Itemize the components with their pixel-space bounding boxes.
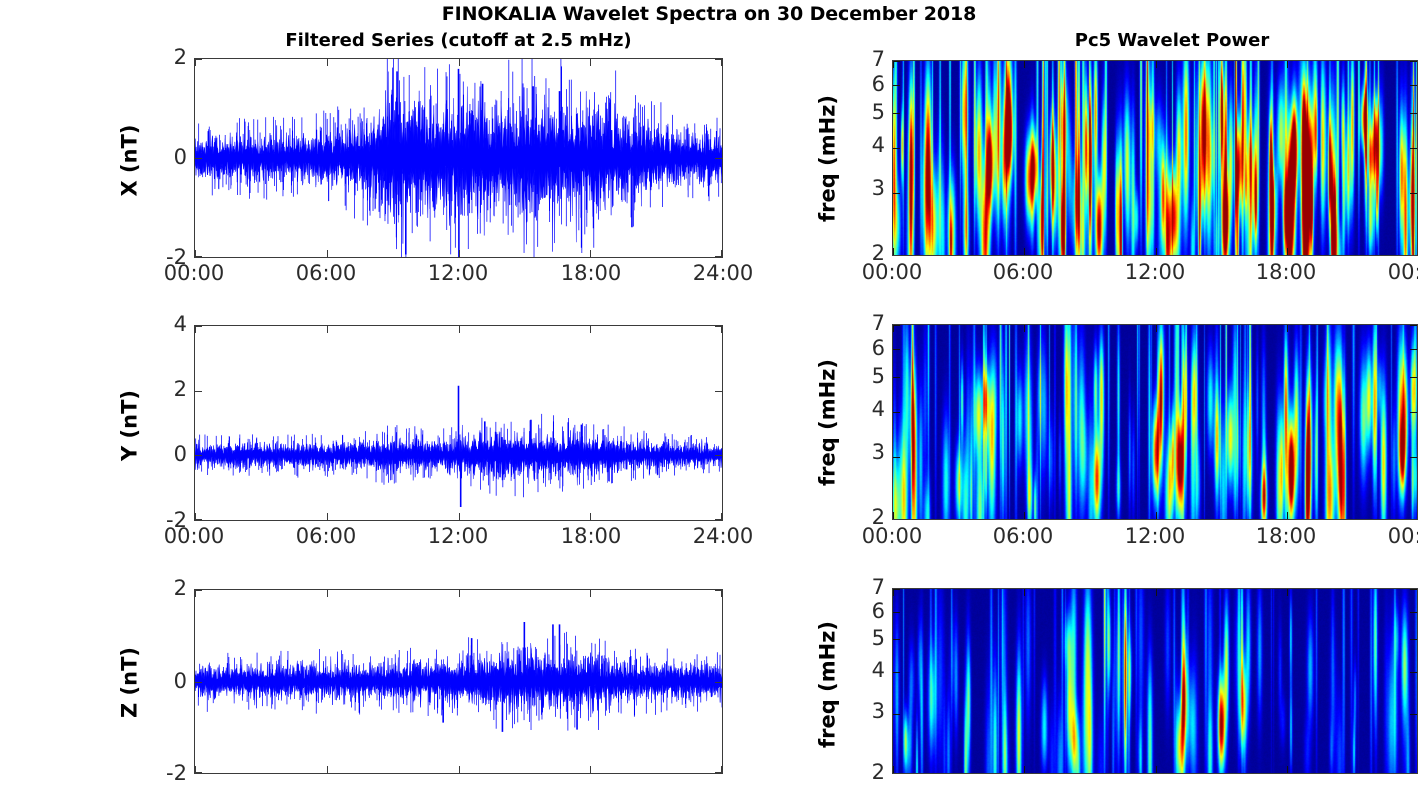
tick-mark [1156,248,1157,255]
ftick-y-5: 5 [841,366,885,387]
tick-mark [590,766,591,773]
ftick-z-6: 6 [841,601,885,622]
ytick-y-0: 0 [143,444,187,465]
figure-title: FINOKALIA Wavelet Spectra on 30 December… [0,3,1418,25]
ftick-z-4: 4 [841,660,885,681]
heatmap-z-wavelet-power[interactable] [892,588,1418,774]
tick-mark [1024,766,1025,773]
tick-mark [195,682,202,683]
tick-mark [893,325,894,332]
tick-mark [1287,61,1288,68]
trace-x [195,59,722,257]
tick-mark [1156,766,1157,773]
xtick-y-12: 12:00 [408,526,508,547]
tick-mark [459,326,460,333]
tick-mark [1410,61,1417,62]
tick-mark [459,250,460,257]
tick-mark [715,519,722,520]
tick-mark [1410,672,1417,673]
tick-mark [1287,512,1288,519]
tick-mark [893,412,900,413]
axis-label-y-nt: Y (nT) [120,356,141,496]
ftick-y-3: 3 [841,442,885,463]
ytick-y-4: 4 [143,314,187,335]
tick-mark [893,61,894,68]
xtick-hx-6: 06:00 [973,262,1073,283]
tick-mark [195,519,202,520]
axis-label-z-nt: Z (nT) [120,613,141,753]
xtick-y-6: 06:00 [276,526,376,547]
tick-mark [590,590,591,597]
tick-mark [1024,512,1025,519]
tick-mark [1156,589,1157,596]
ftick-x-7: 7 [841,49,885,70]
ytick-x-0: 0 [143,147,187,168]
tick-mark [893,85,900,86]
xtick-hx-18: 18:00 [1236,262,1336,283]
tick-mark [459,59,460,66]
tick-mark [1024,61,1025,68]
tick-mark [590,250,591,257]
tick-mark [715,590,722,591]
axis-label-freq-x: freq (mHz) [818,69,839,249]
tick-mark [1156,61,1157,68]
xtick-hx-24: 00:00 [1368,262,1418,283]
tick-mark [195,59,202,60]
tick-mark [715,682,722,683]
tick-mark [893,248,894,255]
tick-mark [1156,325,1157,332]
axis-label-freq-y: freq (mHz) [818,333,839,513]
ytick-z-m2: -2 [143,763,187,784]
xtick-y-18: 18:00 [541,526,641,547]
tick-mark [195,391,202,392]
right-column-title: Pc5 Wavelet Power [892,30,1418,51]
tick-mark [1410,457,1417,458]
xtick-x-6: 06:00 [276,263,376,284]
tick-mark [327,250,328,257]
tick-mark [893,672,900,673]
xtick-x-24: 24:00 [673,263,773,284]
tick-mark [893,512,894,519]
ftick-z-2: 2 [841,762,885,783]
ftick-y-4: 4 [841,399,885,420]
tick-mark [715,326,722,327]
tick-mark [327,590,328,597]
axis-label-freq-z: freq (mHz) [818,595,839,775]
tick-mark [893,766,894,773]
tick-mark [327,326,328,333]
tick-mark [893,457,900,458]
tick-mark [1410,412,1417,413]
tick-mark [1410,193,1417,194]
tick-mark [327,59,328,66]
tick-mark [715,772,722,773]
trace-y [195,326,722,520]
left-column-title: Filtered Series (cutoff at 2.5 mHz) [194,30,723,51]
xtick-hy-12: 12:00 [1105,526,1205,547]
ytick-x-2: 2 [143,47,187,68]
tick-mark [459,590,460,597]
tick-mark [590,326,591,333]
tick-mark [1410,612,1417,613]
tick-mark [1287,325,1288,332]
tick-mark [1410,113,1417,114]
tick-mark [1024,248,1025,255]
ftick-z-7: 7 [841,577,885,598]
axes-x-filtered-series[interactable] [194,58,723,258]
tick-mark [195,326,202,327]
xtick-hx-12: 12:00 [1105,262,1205,283]
heatmap-z-canvas [893,589,1418,774]
tick-mark [195,455,202,456]
tick-mark [893,714,900,715]
tick-mark [893,148,900,149]
ftick-x-5: 5 [841,102,885,123]
tick-mark [715,59,722,60]
xtick-hx-0: 00:00 [842,262,942,283]
xtick-hy-18: 18:00 [1236,526,1336,547]
heatmap-y-canvas [893,325,1418,520]
tick-mark [1410,639,1417,640]
tick-mark [893,612,900,613]
tick-mark [1410,148,1417,149]
tick-mark [715,256,722,257]
heatmap-y-wavelet-power[interactable] [892,324,1418,520]
tick-mark [1024,325,1025,332]
xtick-hy-6: 06:00 [973,526,1073,547]
ftick-z-5: 5 [841,628,885,649]
tick-mark [1410,377,1417,378]
tick-mark [327,766,328,773]
trace-z [195,590,722,773]
tick-mark [1287,589,1288,596]
tick-mark [195,256,202,257]
tick-mark [1287,766,1288,773]
tick-mark [1410,589,1417,590]
tick-mark [1410,714,1417,715]
xtick-hy-24: 00:00 [1368,526,1418,547]
figure-canvas: FINOKALIA Wavelet Spectra on 30 December… [0,0,1418,788]
xtick-x-18: 18:00 [541,263,641,284]
axes-z-filtered-series[interactable] [194,589,723,774]
xtick-y-0: 00:00 [144,526,244,547]
ytick-y-2: 2 [143,379,187,400]
tick-mark [893,113,900,114]
ftick-x-6: 6 [841,74,885,95]
tick-mark [1024,589,1025,596]
ftick-z-3: 3 [841,701,885,722]
axes-y-filtered-series[interactable] [194,325,723,521]
tick-mark [893,377,900,378]
ftick-x-3: 3 [841,178,885,199]
tick-mark [715,158,722,159]
tick-mark [893,639,900,640]
heatmap-x-wavelet-power[interactable] [892,60,1418,256]
tick-mark [715,391,722,392]
tick-mark [459,766,460,773]
tick-mark [1410,85,1417,86]
tick-mark [893,193,900,194]
tick-mark [1287,248,1288,255]
xtick-x-12: 12:00 [408,263,508,284]
tick-mark [195,158,202,159]
xtick-hy-0: 00:00 [842,526,942,547]
tick-mark [590,59,591,66]
tick-mark [195,590,202,591]
tick-mark [327,513,328,520]
tick-mark [1410,325,1417,326]
tick-mark [893,589,894,596]
axis-label-x-nt: X (nT) [120,91,141,231]
tick-mark [590,513,591,520]
ytick-z-0: 0 [143,671,187,692]
tick-mark [1410,349,1417,350]
tick-mark [715,455,722,456]
ftick-y-6: 6 [841,338,885,359]
tick-mark [459,513,460,520]
ftick-x-4: 4 [841,135,885,156]
xtick-x-0: 00:00 [144,263,244,284]
tick-mark [893,349,900,350]
ytick-z-2: 2 [143,578,187,599]
ftick-y-7: 7 [841,313,885,334]
xtick-y-24: 24:00 [673,526,773,547]
tick-mark [195,772,202,773]
tick-mark [1156,512,1157,519]
heatmap-x-canvas [893,61,1418,256]
